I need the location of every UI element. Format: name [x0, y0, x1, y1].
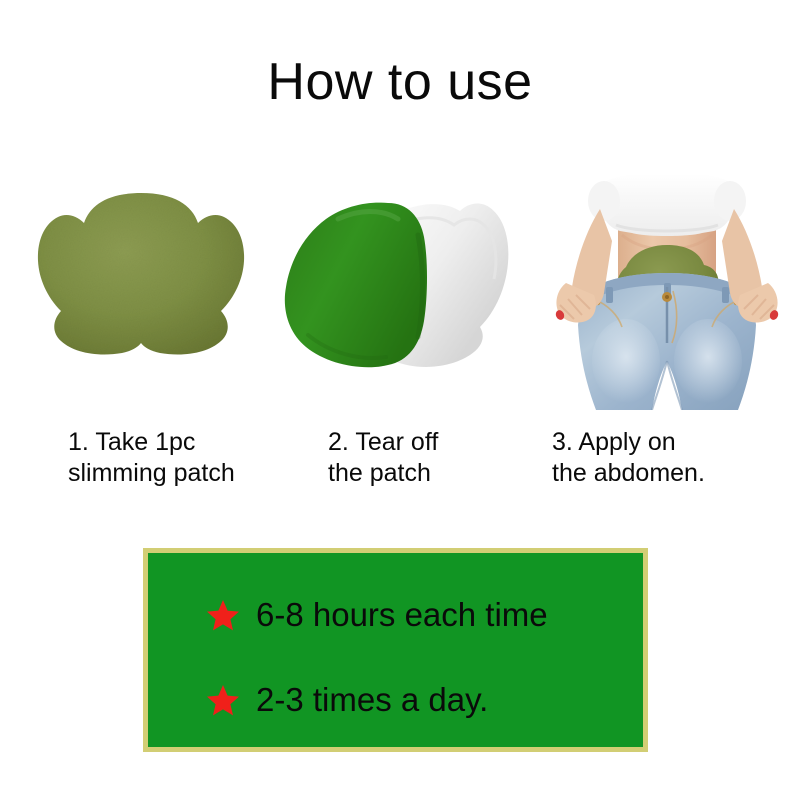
patch-peeling-from-liner-image: [268, 175, 518, 410]
step-2-caption-line-1: 2. Tear off: [328, 427, 548, 458]
step-2-caption: 2. Tear off the patch: [268, 427, 548, 489]
step-3-caption: 3. Apply on the abdomen.: [542, 427, 792, 489]
olive-slimming-patch-image: [16, 175, 266, 410]
step-3-caption-line-1: 3. Apply on: [552, 427, 792, 458]
oversized-jeans: [578, 273, 756, 410]
star-icon: [206, 599, 240, 632]
step-1-caption-line-1: 1. Take 1pc: [68, 427, 298, 458]
usage-info-box: 6-8 hours each time 2-3 times a day.: [143, 548, 648, 752]
usage-frequency-text: 2-3 times a day.: [256, 681, 488, 719]
green-patch-peeled: [285, 203, 427, 368]
step-2-caption-line-2: the patch: [328, 458, 548, 489]
step-1: 1. Take 1pc slimming patch: [16, 175, 266, 505]
usage-row-duration: 6-8 hours each time: [206, 596, 548, 634]
step-3-caption-line-2: the abdomen.: [552, 458, 792, 489]
step-3: 3. Apply on the abdomen.: [542, 175, 792, 505]
steps-row: 1. Take 1pc slimming patch: [0, 175, 800, 505]
usage-duration-text: 6-8 hours each time: [256, 596, 548, 634]
step-2: 2. Tear off the patch: [268, 175, 518, 505]
usage-row-frequency: 2-3 times a day.: [206, 681, 488, 719]
patch-shape: [38, 193, 244, 355]
step-1-caption-line-2: slimming patch: [68, 458, 298, 489]
patch-applied-on-abdomen-photo: [542, 175, 792, 410]
star-icon: [206, 684, 240, 717]
product-instruction-page: How to use: [0, 0, 800, 800]
white-crop-top: [588, 175, 746, 236]
step-1-caption: 1. Take 1pc slimming patch: [16, 427, 298, 489]
page-title: How to use: [0, 52, 800, 112]
